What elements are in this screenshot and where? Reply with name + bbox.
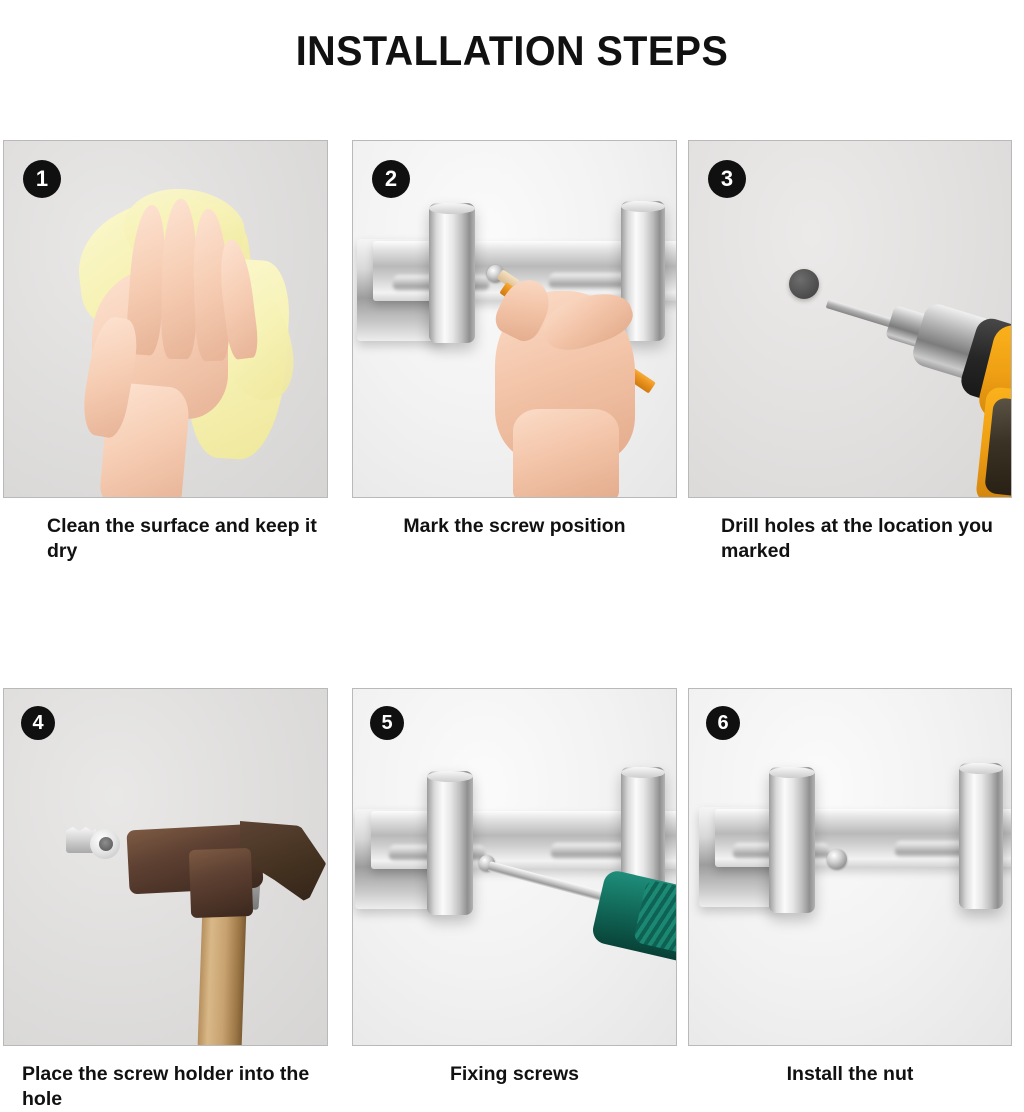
anchor-bore-icon xyxy=(99,837,113,851)
step-photo-2: 2 xyxy=(352,140,677,498)
wrist-icon xyxy=(513,409,619,498)
page-title: INSTALLATION STEPS xyxy=(31,28,994,74)
steps-row-bottom: 4 Place the screw holder into the hole 5 xyxy=(0,688,1024,1112)
step-caption-6: Install the nut xyxy=(688,1062,1012,1087)
hammer-handle-icon xyxy=(198,906,247,1046)
step-photo-5: 5 xyxy=(352,688,677,1046)
step-caption-2: Mark the screw position xyxy=(352,514,677,539)
step-card-3: 3 Drill holes at the location you marked xyxy=(682,140,1023,564)
step-card-2: 2 Mark the screw position xyxy=(341,140,682,539)
step-photo-6: 6 xyxy=(688,688,1012,1046)
step-caption-3: Drill holes at the location you marked xyxy=(688,514,1012,564)
drilled-hole-icon xyxy=(789,269,819,299)
step-photo-1: 1 xyxy=(3,140,328,498)
step-caption-5: Fixing screws xyxy=(352,1062,677,1087)
step-caption-1: Clean the surface and keep it dry xyxy=(3,514,328,564)
step-card-5: 5 Fixing screws xyxy=(341,688,682,1087)
step-photo-3: 3 xyxy=(688,140,1012,498)
step-photo-4: 4 xyxy=(3,688,328,1046)
step-badge-3: 3 xyxy=(708,160,746,198)
step-caption-4: Place the screw holder into the hole xyxy=(3,1062,328,1112)
hook-post-left-icon xyxy=(769,767,815,913)
hook-post-right-icon xyxy=(959,763,1003,909)
hammer-neck-icon xyxy=(189,848,253,918)
step-card-6: 6 Install the nut xyxy=(682,688,1023,1087)
step-card-4: 4 Place the screw holder into the hole xyxy=(0,688,341,1112)
step-card-1: 1 Clean the surface and keep it dry xyxy=(0,140,341,564)
step-badge-5: 5 xyxy=(370,706,404,740)
hook-post-left-icon xyxy=(429,203,475,343)
hook-post-left-icon xyxy=(427,771,473,915)
steps-row-top: 1 Clean the surface and keep it dry xyxy=(0,140,1024,564)
step-badge-1: 1 xyxy=(23,160,61,198)
installation-steps-grid: 1 Clean the surface and keep it dry xyxy=(0,140,1024,1112)
step-badge-4: 4 xyxy=(21,706,55,740)
step-badge-2: 2 xyxy=(372,160,410,198)
step-badge-6: 6 xyxy=(706,706,740,740)
nut-icon xyxy=(827,849,847,869)
